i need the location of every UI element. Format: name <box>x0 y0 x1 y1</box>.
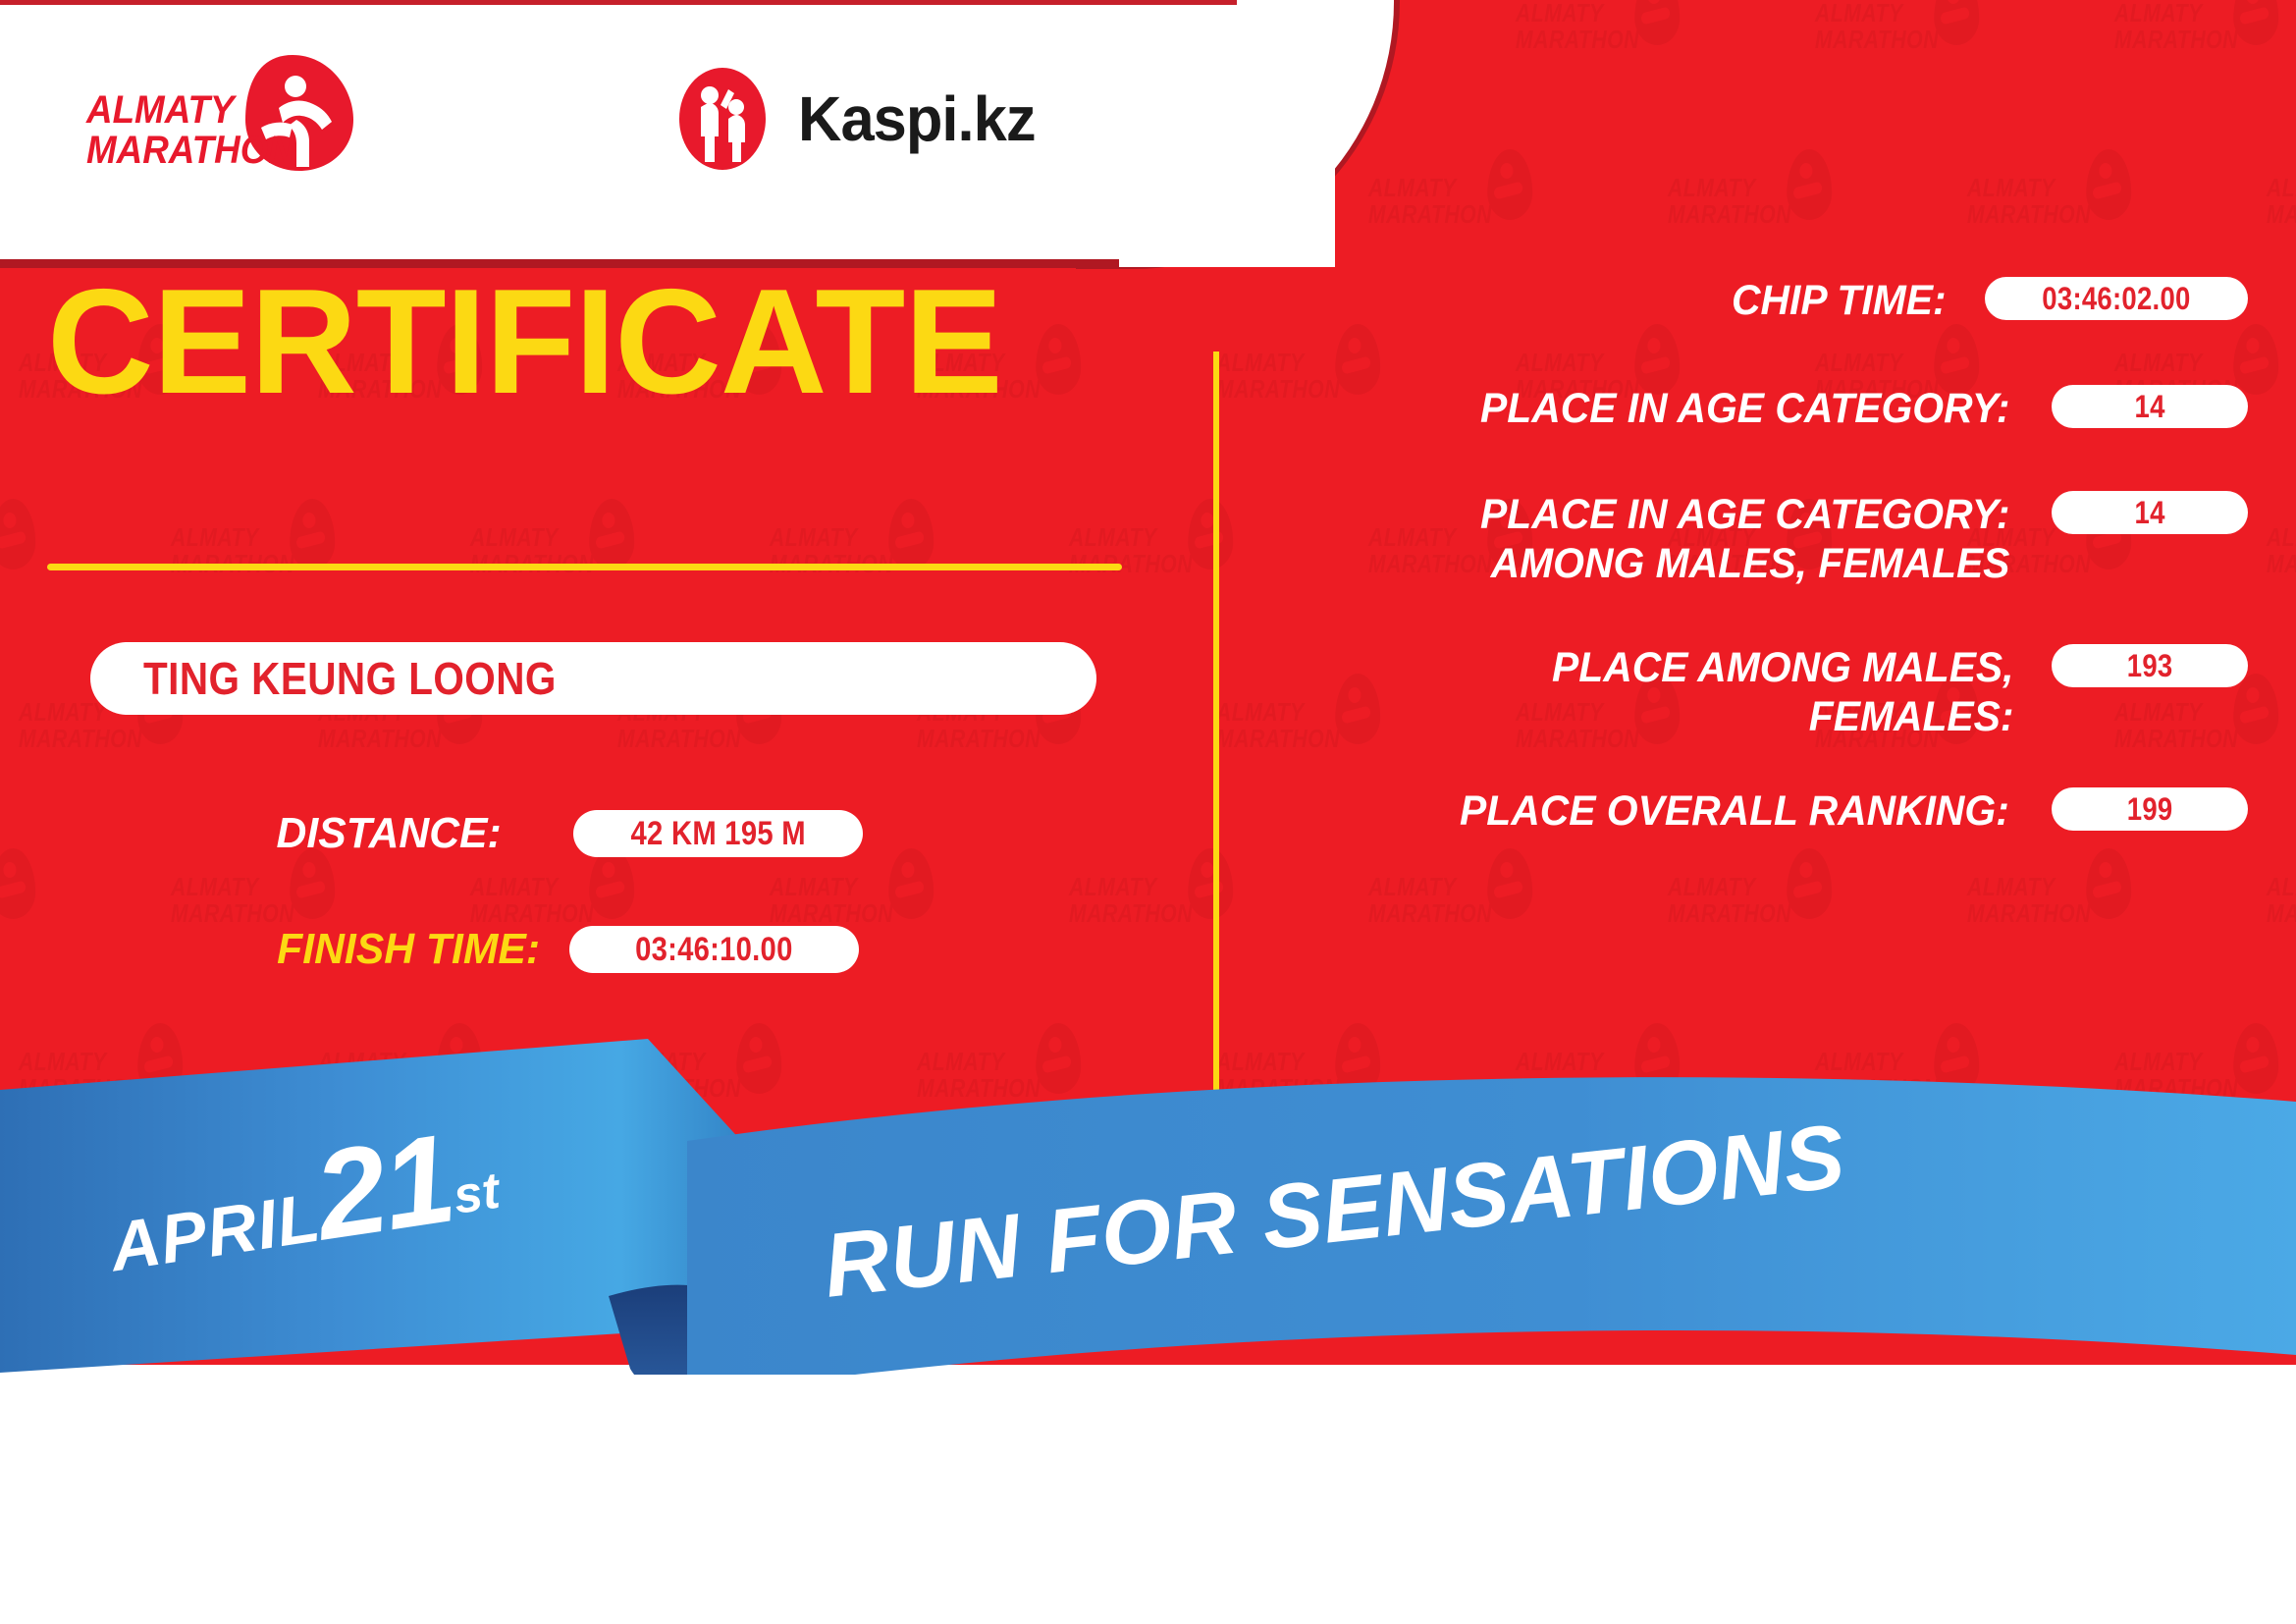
watermark-line-1: ALMATY <box>1967 1223 2136 1250</box>
chip-time-label: CHIP TIME: <box>1732 277 1947 326</box>
watermark-tile: ALMATYMARATHON <box>2267 524 2296 632</box>
watermark-line-1: ALMATY <box>1668 1223 1837 1250</box>
place-age-category-row: PLACE IN AGE CATEGORY: 14 <box>1266 385 2248 434</box>
almaty-line: ALMATY <box>86 90 294 131</box>
watermark-line-1: ALMATY <box>470 874 639 900</box>
watermark-line-1: ALMATY <box>2267 874 2296 900</box>
watermark-line-1: ALMATY <box>770 524 938 551</box>
chip-time-value: 03:46:02.00 <box>2042 281 2190 317</box>
watermark-line-2: MARATHON <box>0 900 40 927</box>
watermark-line-2: MARATHON <box>917 726 1086 752</box>
watermark-line-2: MARATHON <box>470 1250 639 1276</box>
watermark-drop-icon <box>437 1023 482 1094</box>
watermark-drop-icon <box>0 1198 35 1269</box>
place-overall-ranking-row: PLACE OVERALL RANKING: 199 <box>1266 787 2248 837</box>
watermark-line-2: MARATHON <box>470 900 639 927</box>
watermark-tile: ALMATYMARATHON <box>2114 1049 2283 1157</box>
watermark-line-2: MARATHON <box>1516 1075 1684 1102</box>
watermark-drop-icon <box>1787 149 1832 220</box>
watermark-tile: ALMATYMARATHON <box>19 699 187 807</box>
watermark-line-2: MARATHON <box>1967 900 2136 927</box>
kaspi-logo: Kaspi.kz <box>677 61 1090 177</box>
watermark-tile: ALMATYMARATHON <box>917 1049 1086 1157</box>
ribbon-date-suffix: st <box>450 1163 503 1225</box>
watermark-line-2: MARATHON <box>1967 1250 2136 1276</box>
watermark-line-1: ALMATY <box>1668 175 1837 201</box>
watermark-tile: ALMATYMARATHON <box>0 1223 40 1331</box>
watermark-drop-icon <box>1335 1023 1380 1094</box>
watermark-drop-icon <box>290 499 335 569</box>
place-overall-ranking-label: PLACE OVERALL RANKING: <box>1460 787 2009 837</box>
almaty-marathon-logo: ALMATY MARATHON <box>86 47 381 185</box>
watermark-line-1: ALMATY <box>1967 175 2136 201</box>
watermark-line-1: ALMATY <box>0 874 40 900</box>
watermark-drop-icon <box>1036 324 1081 395</box>
watermark-line-2: MARATHON <box>1967 201 2136 228</box>
place-age-category-among-row: PLACE IN AGE CATEGORY: AMONG MALES, FEMA… <box>1266 491 2248 589</box>
watermark-line-1: ALMATY <box>1516 350 1684 376</box>
watermark-line-1: ALMATY <box>1516 1049 1684 1075</box>
watermark-line-1: ALMATY <box>2267 1223 2296 1250</box>
distance-value-pill: 42 KM 195 M <box>573 810 863 857</box>
watermark-drop-icon <box>888 499 934 569</box>
place-age-category-value: 14 <box>2134 389 2164 425</box>
place-overall-ranking-value: 199 <box>2127 791 2173 828</box>
finish-time-label: FINISH TIME: <box>277 925 540 974</box>
watermark-drop-icon <box>137 1023 183 1094</box>
watermark-drop-icon <box>2086 1198 2131 1269</box>
watermark-tile: ALMATYMARATHON <box>617 1049 786 1157</box>
watermark-line-2: MARATHON <box>0 1250 40 1276</box>
watermark-line-2: MARATHON <box>770 900 938 927</box>
watermark-line-1: ALMATY <box>2114 1049 2283 1075</box>
watermark-tile: ALMATYMARATHON <box>1668 874 1837 982</box>
watermark-line-1: ALMATY <box>171 524 340 551</box>
watermark-drop-icon <box>1487 848 1532 919</box>
finish-time-value-pill: 03:46:10.00 <box>569 926 859 973</box>
watermark-line-1: ALMATY <box>2114 350 2283 376</box>
watermark-line-2: MARATHON <box>318 1075 487 1102</box>
title-underline <box>47 564 1122 570</box>
watermark-line-1: ALMATY <box>1368 175 1537 201</box>
watermark-line-2: MARATHON <box>19 1075 187 1102</box>
watermark-tile: ALMATYMARATHON <box>1668 175 1837 283</box>
watermark-tile: ALMATYMARATHON <box>0 874 40 982</box>
ribbon-date-day: 21 <box>306 1109 461 1268</box>
place-among-males-value: 193 <box>2127 648 2173 684</box>
watermark-tile: ALMATYMARATHON <box>1516 0 1684 108</box>
watermark-line-2: MARATHON <box>1815 27 1984 53</box>
place-age-category-among-value: 14 <box>2134 495 2164 531</box>
place-age-category-among-label: PLACE IN AGE CATEGORY: AMONG MALES, FEMA… <box>1480 491 2009 589</box>
watermark-tile: ALMATYMARATHON <box>617 699 786 807</box>
watermark-tile: ALMATYMARATHON <box>2267 874 2296 982</box>
place-age-category-among-value-pill: 14 <box>2052 491 2248 534</box>
watermark-tile: ALMATYMARATHON <box>1368 874 1537 982</box>
column-divider <box>1213 352 1219 1098</box>
watermark-drop-icon <box>1787 848 1832 919</box>
watermark-line-1: ALMATY <box>1815 350 1984 376</box>
label-line-2: AMONG MALES, FEMALES <box>1480 540 2009 589</box>
place-overall-ranking-value-pill: 199 <box>2052 787 2248 831</box>
watermark-line-1: ALMATY <box>19 1049 187 1075</box>
watermark-line-1: ALMATY <box>2267 524 2296 551</box>
watermark-line-1: ALMATY <box>617 1049 786 1075</box>
watermark-line-1: ALMATY <box>171 874 340 900</box>
watermark-tile: ALMATYMARATHON <box>1815 0 1984 108</box>
watermark-tile: ALMATYMARATHON <box>19 1049 187 1157</box>
watermark-line-1: ALMATY <box>1967 874 2136 900</box>
place-age-category-label: PLACE IN AGE CATEGORY: <box>1480 385 2009 434</box>
header-top-hairline <box>0 0 1237 5</box>
watermark-line-1: ALMATY <box>1668 874 1837 900</box>
chip-time-value-pill: 03:46:02.00 <box>1985 277 2248 320</box>
place-among-males-value-pill: 193 <box>2052 644 2248 687</box>
watermark-drop-icon <box>1934 1023 1979 1094</box>
watermark-drop-icon <box>888 848 934 919</box>
watermark-drop-icon <box>0 499 35 569</box>
watermark-drop-icon <box>736 1023 781 1094</box>
watermark-drop-icon <box>589 499 634 569</box>
certificate-canvas: ALMATYMARATHONALMATYMARATHONALMATYMARATH… <box>0 0 2296 1624</box>
watermark-line-2: MARATHON <box>1368 201 1537 228</box>
distance-value: 42 KM 195 M <box>631 815 806 853</box>
kaspi-family-icon <box>677 68 768 170</box>
label-line-1: PLACE IN AGE CATEGORY: <box>1480 491 2009 540</box>
watermark-line-2: MARATHON <box>2267 551 2296 577</box>
watermark-line-1: ALMATY <box>2114 0 2283 27</box>
watermark-line-2: MARATHON <box>1668 201 1837 228</box>
watermark-tile: ALMATYMARATHON <box>1967 175 2136 283</box>
watermark-line-1: ALMATY <box>1368 874 1537 900</box>
watermark-line-2: MARATHON <box>19 726 187 752</box>
watermark-tile: ALMATYMARATHON <box>2267 1223 2296 1331</box>
finish-time-value: 03:46:10.00 <box>635 931 793 969</box>
watermark-tile: ALMATYMARATHON <box>1967 874 2136 982</box>
sponsor-strip <box>0 1375 2296 1624</box>
watermark-tile: ALMATYMARATHON <box>1668 1223 1837 1331</box>
marathon-line: MARATHON <box>86 131 294 171</box>
watermark-drop-icon <box>589 848 634 919</box>
participant-name-value: TING KEUNG LOONG <box>143 652 557 705</box>
label-line-2: FEMALES: <box>1552 693 2014 742</box>
watermark-tile: ALMATYMARATHON <box>1368 175 1537 283</box>
watermark-line-2: MARATHON <box>617 726 786 752</box>
almaty-marathon-wordmark: ALMATY MARATHON <box>86 90 294 171</box>
watermark-tile: ALMATYMARATHON <box>1216 1049 1385 1157</box>
watermark-line-1: ALMATY <box>917 1049 1086 1075</box>
watermark-tile: ALMATYMARATHON <box>2267 175 2296 283</box>
distance-row: DISTANCE: 42 KM 195 M <box>273 809 863 858</box>
place-age-category-value-pill: 14 <box>2052 385 2248 428</box>
watermark-line-2: MARATHON <box>2267 1250 2296 1276</box>
watermark-line-2: MARATHON <box>171 900 340 927</box>
watermark-line-2: MARATHON <box>2114 27 2283 53</box>
watermark-line-2: MARATHON <box>2267 900 2296 927</box>
place-among-males-label: PLACE AMONG MALES, FEMALES: <box>1552 644 2014 742</box>
watermark-drop-icon <box>2233 1023 2278 1094</box>
watermark-line-2: MARATHON <box>1668 900 1837 927</box>
watermark-line-2: MARATHON <box>2114 1075 2283 1102</box>
watermark-line-1: ALMATY <box>1815 1049 1984 1075</box>
watermark-tile: ALMATYMARATHON <box>770 524 938 632</box>
watermark-drop-icon <box>1634 1023 1680 1094</box>
watermark-drop-icon <box>1036 1023 1081 1094</box>
watermark-line-2: MARATHON <box>1368 900 1537 927</box>
watermark-line-2: MARATHON <box>1216 1075 1385 1102</box>
watermark-line-2: MARATHON <box>1815 1075 1984 1102</box>
watermark-line-2: MARATHON <box>0 551 40 577</box>
chip-time-row: CHIP TIME: 03:46:02.00 <box>1266 277 2248 326</box>
watermark-line-1: ALMATY <box>0 1223 40 1250</box>
kaspi-wordmark: Kaspi.kz <box>798 82 1036 155</box>
watermark-line-1: ALMATY <box>318 1049 487 1075</box>
watermark-drop-icon <box>2086 149 2131 220</box>
watermark-tile: ALMATYMARATHON <box>470 524 639 632</box>
ribbon-date-month: APRIL <box>105 1178 325 1285</box>
watermark-drop-icon <box>1188 848 1233 919</box>
watermark-drop-icon <box>0 848 35 919</box>
watermark-line-2: MARATHON <box>1668 1250 1837 1276</box>
watermark-tile: ALMATYMARATHON <box>318 699 487 807</box>
distance-label: DISTANCE: <box>277 809 502 858</box>
watermark-line-2: MARATHON <box>617 1075 786 1102</box>
watermark-drop-icon <box>1934 0 1979 45</box>
place-among-males-row: PLACE AMONG MALES, FEMALES: 193 <box>1266 644 2248 742</box>
watermark-drop-icon <box>2233 0 2278 45</box>
watermark-tile: ALMATYMARATHON <box>171 524 340 632</box>
watermark-line-1: ALMATY <box>2267 175 2296 201</box>
watermark-line-1: ALMATY <box>1216 1049 1385 1075</box>
watermark-tile: ALMATYMARATHON <box>0 524 40 632</box>
watermark-line-2: MARATHON <box>917 1075 1086 1102</box>
watermark-line-2: MARATHON <box>318 726 487 752</box>
watermark-drop-icon <box>1487 149 1532 220</box>
watermark-line-2: MARATHON <box>2267 201 2296 228</box>
watermark-line-1: ALMATY <box>1815 0 1984 27</box>
watermark-tile: ALMATYMARATHON <box>917 699 1086 807</box>
watermark-drop-icon <box>589 1198 634 1269</box>
watermark-drop-icon <box>290 848 335 919</box>
watermark-line-1: ALMATY <box>0 524 40 551</box>
watermark-line-2: MARATHON <box>1516 27 1684 53</box>
watermark-tile: ALMATYMARATHON <box>1967 1223 2136 1331</box>
watermark-drop-icon <box>1634 0 1680 45</box>
watermark-line-1: ALMATY <box>770 874 938 900</box>
label-line-1: PLACE AMONG MALES, <box>1552 644 2014 693</box>
watermark-drop-icon <box>1188 499 1233 569</box>
participant-name-field: TING KEUNG LOONG <box>90 642 1096 715</box>
watermark-line-1: ALMATY <box>1216 350 1385 376</box>
finish-time-row: FINISH TIME: 03:46:10.00 <box>273 925 859 974</box>
watermark-line-1: ALMATY <box>1516 0 1684 27</box>
page-title: CERTIFICATE <box>47 267 1002 416</box>
watermark-drop-icon <box>2086 848 2131 919</box>
watermark-line-1: ALMATY <box>470 524 639 551</box>
watermark-tile: ALMATYMARATHON <box>2114 0 2283 108</box>
